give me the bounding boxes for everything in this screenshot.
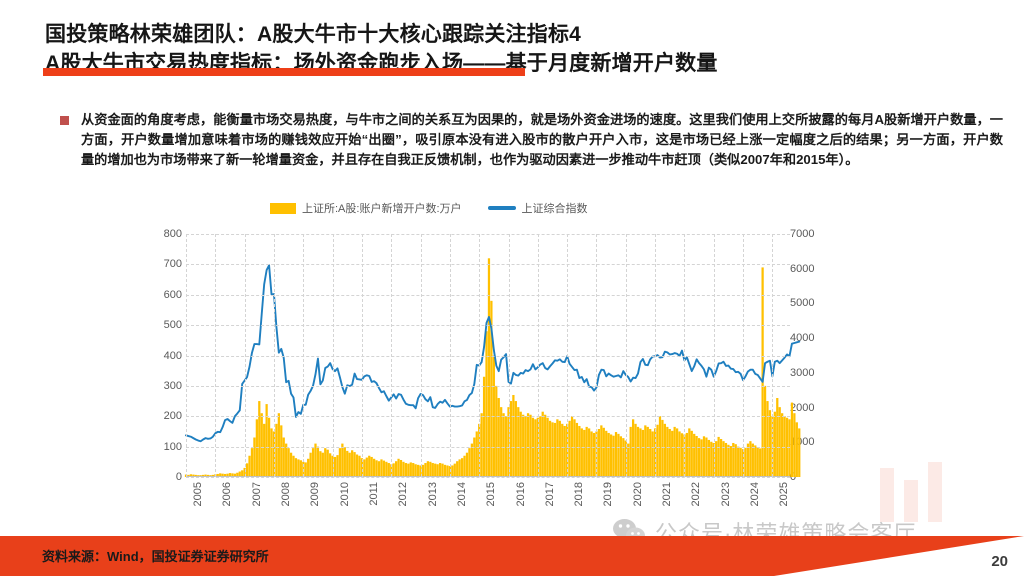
y-axis-right-tick: 5000	[790, 297, 814, 309]
bar	[488, 258, 490, 477]
bar	[791, 403, 793, 477]
bar	[251, 448, 253, 477]
bar	[322, 453, 324, 477]
bar	[647, 427, 649, 477]
x-axis-tick: 2019	[602, 482, 614, 506]
bar	[246, 463, 248, 477]
bar	[366, 458, 368, 477]
bar	[564, 426, 566, 477]
bar	[258, 401, 260, 477]
bar	[312, 448, 314, 477]
bar	[383, 461, 385, 477]
x-axis-tick: 2009	[309, 482, 321, 506]
bar	[461, 458, 463, 477]
bar	[263, 424, 265, 477]
gridline-vertical	[567, 234, 568, 477]
bar	[559, 421, 561, 477]
x-axis-tick: 2013	[427, 482, 439, 506]
bar	[485, 331, 487, 477]
y-axis-left: 0100200300400500600700800	[120, 234, 182, 477]
bar	[503, 413, 505, 477]
bar	[561, 424, 563, 477]
bar	[776, 398, 778, 477]
bar	[581, 428, 583, 477]
bar	[664, 424, 666, 477]
bar	[656, 425, 658, 477]
gridline-vertical	[479, 234, 480, 477]
gridline-vertical	[450, 234, 451, 477]
bar	[674, 427, 676, 477]
x-axis-tick: 2018	[573, 482, 585, 506]
y-axis-right-tick: 3000	[790, 367, 814, 379]
source-note: 资料来源：Wind，国投证券证券研究所	[42, 546, 269, 565]
bar	[466, 453, 468, 477]
bar	[495, 386, 497, 477]
bar	[622, 438, 624, 477]
y-axis-left-tick: 800	[164, 228, 182, 240]
bar	[295, 458, 297, 477]
bar	[434, 464, 436, 477]
bar	[608, 433, 610, 477]
y-axis-left-tick: 200	[164, 410, 182, 422]
bar	[661, 420, 663, 477]
gridline-vertical	[245, 234, 246, 477]
bar	[292, 456, 294, 477]
bar	[515, 401, 517, 477]
bar	[305, 462, 307, 477]
bar	[400, 460, 402, 477]
bar	[300, 460, 302, 477]
bar	[588, 428, 590, 477]
bar	[732, 443, 734, 477]
bar	[468, 448, 470, 477]
bar	[551, 422, 553, 477]
gridline-vertical	[538, 234, 539, 477]
bar	[696, 436, 698, 477]
slide-root: 国投策略林荣雄团队：A股大牛市十大核心跟踪关注指标4 A股大牛市交易热度指标：场…	[0, 0, 1024, 576]
bar	[356, 455, 358, 477]
gridline-vertical	[333, 234, 334, 477]
bar	[793, 413, 795, 477]
bar	[630, 427, 632, 477]
bar	[253, 438, 255, 477]
bar	[512, 395, 514, 477]
bar	[718, 437, 720, 477]
gridline-vertical	[596, 234, 597, 477]
bar	[737, 447, 739, 477]
bar	[688, 428, 690, 477]
bar	[798, 428, 800, 477]
bar	[463, 456, 465, 477]
gridline-vertical	[215, 234, 216, 477]
x-axis-tick: 2025	[778, 482, 790, 506]
bar	[368, 456, 370, 477]
bar	[287, 448, 289, 477]
x-axis-tick: 2005	[192, 482, 204, 506]
bar	[637, 427, 639, 477]
bar	[380, 459, 382, 477]
bar	[740, 448, 742, 477]
gridline-vertical	[626, 234, 627, 477]
gridline-horizontal	[186, 477, 790, 478]
bar	[556, 419, 558, 477]
bar	[388, 463, 390, 477]
bar	[727, 445, 729, 477]
title-line-1: 国投策略林荣雄团队：A股大牛市十大核心跟踪关注指标4	[45, 20, 1005, 49]
bar	[666, 427, 668, 477]
bar	[358, 456, 360, 477]
bar	[691, 431, 693, 477]
gridline-vertical	[684, 234, 685, 477]
bar	[766, 401, 768, 477]
bar	[681, 433, 683, 477]
bar	[744, 448, 746, 477]
bar	[590, 431, 592, 477]
bar	[542, 412, 544, 477]
bar	[527, 413, 529, 477]
title-underline	[43, 68, 525, 76]
bar	[676, 428, 678, 477]
gridline-vertical	[743, 234, 744, 477]
bar	[759, 448, 761, 477]
bar	[334, 457, 336, 477]
bar	[248, 456, 250, 477]
bar	[319, 451, 321, 477]
gridline-horizontal	[186, 447, 790, 448]
bullet-paragraph: 从资金面的角度考虑，能衡量市场交易热度，与牛市之间的关系互为因果的，就是场外资金…	[60, 110, 1010, 170]
bar	[627, 444, 629, 477]
bar	[603, 428, 605, 477]
bar	[278, 413, 280, 477]
gridline-vertical	[655, 234, 656, 477]
bar	[397, 459, 399, 477]
bar	[669, 429, 671, 477]
bar	[336, 455, 338, 477]
bar	[747, 444, 749, 477]
bar	[612, 436, 614, 477]
bar	[576, 423, 578, 477]
y-axis-left-tick: 300	[164, 380, 182, 392]
bar	[617, 434, 619, 477]
bar	[373, 459, 375, 477]
bar	[351, 450, 353, 477]
bar	[454, 464, 456, 477]
bar	[344, 447, 346, 477]
bar	[378, 461, 380, 477]
page-number: 20	[991, 553, 1008, 570]
bar	[427, 461, 429, 477]
bar	[412, 463, 414, 477]
gridline-horizontal	[186, 416, 790, 417]
y-axis-right-tick: 2000	[790, 402, 814, 414]
bar	[309, 453, 311, 477]
bar	[568, 421, 570, 477]
bar	[261, 413, 263, 477]
x-axis-tick: 2007	[251, 482, 263, 506]
bar	[605, 431, 607, 477]
bar	[473, 438, 475, 477]
bar	[314, 444, 316, 477]
bar	[730, 446, 732, 477]
x-axis-tick: 2017	[544, 482, 556, 506]
bar	[752, 444, 754, 477]
bar	[781, 413, 783, 477]
bar	[520, 412, 522, 477]
legend-item-line: 上证综合指数	[488, 200, 588, 216]
legend-line-swatch-icon	[488, 206, 516, 210]
bar	[481, 413, 483, 477]
bar	[432, 463, 434, 477]
x-axis-tick: 2010	[339, 482, 351, 506]
x-axis-tick: 2014	[456, 482, 468, 506]
bar	[703, 436, 705, 477]
gridline-vertical	[303, 234, 304, 477]
bar	[796, 422, 798, 477]
gridline-vertical	[362, 234, 363, 477]
bar	[764, 386, 766, 477]
bar	[371, 457, 373, 477]
bar	[405, 463, 407, 477]
bar	[471, 444, 473, 477]
bar	[678, 431, 680, 477]
bar	[456, 461, 458, 477]
legend-bar-swatch-icon	[270, 203, 296, 214]
bar	[285, 444, 287, 477]
y-axis-left-tick: 400	[164, 350, 182, 362]
bar	[424, 463, 426, 477]
bar	[410, 462, 412, 477]
bar	[407, 464, 409, 477]
bar	[429, 462, 431, 477]
bar	[395, 461, 397, 477]
bullet-square-icon	[60, 116, 69, 125]
bar	[620, 436, 622, 477]
bar	[363, 459, 365, 477]
gridline-horizontal	[186, 356, 790, 357]
bar	[610, 434, 612, 477]
bar	[349, 453, 351, 477]
bar	[686, 433, 688, 477]
x-axis-tick: 2023	[720, 482, 732, 506]
bar	[735, 444, 737, 477]
x-axis-tick: 2016	[515, 482, 527, 506]
bar	[549, 421, 551, 477]
footer-wedge-decoration	[774, 536, 1024, 576]
legend-bar-label: 上证所:A股:账户新增开户数:万户	[302, 200, 462, 216]
bar	[266, 404, 268, 477]
bar	[578, 426, 580, 477]
bar	[297, 459, 299, 477]
gridline-vertical	[186, 234, 187, 477]
bar	[639, 428, 641, 477]
bar	[500, 407, 502, 477]
bar	[324, 448, 326, 477]
x-axis-tick: 2011	[368, 482, 380, 506]
chart-legend: 上证所:A股:账户新增开户数:万户 上证综合指数	[270, 200, 588, 216]
bar	[642, 430, 644, 477]
gridline-horizontal	[186, 264, 790, 265]
bar	[353, 452, 355, 477]
bar	[441, 464, 443, 477]
bar	[341, 444, 343, 477]
bar	[644, 425, 646, 477]
x-axis-labels: 2005200620072008200920102011201220132014…	[186, 480, 790, 528]
bar	[586, 427, 588, 477]
bar	[346, 451, 348, 477]
y-axis-left-tick: 100	[164, 441, 182, 453]
bar	[270, 428, 272, 477]
x-axis-tick: 2006	[221, 482, 233, 506]
bar	[698, 438, 700, 477]
bar	[517, 407, 519, 477]
bar	[307, 459, 309, 477]
gridline-horizontal	[186, 386, 790, 387]
gridline-vertical	[714, 234, 715, 477]
y-axis-right-tick: 7000	[790, 228, 814, 240]
gridline-horizontal	[186, 325, 790, 326]
bar	[708, 440, 710, 477]
plot-area	[186, 234, 790, 477]
bar	[459, 459, 461, 477]
x-axis-tick: 2024	[749, 482, 761, 506]
gridline-horizontal	[186, 295, 790, 296]
plot-wrapper: 0100200300400500600700800 01000200030004…	[120, 234, 910, 484]
bar	[256, 419, 258, 477]
legend-line-label: 上证综合指数	[522, 200, 588, 216]
bar	[280, 425, 282, 477]
bar	[327, 450, 329, 477]
gridline-vertical	[509, 234, 510, 477]
bar	[615, 432, 617, 477]
bar	[283, 438, 285, 477]
bar	[573, 419, 575, 477]
bar	[593, 433, 595, 477]
gridline-horizontal	[186, 234, 790, 235]
bar	[498, 398, 500, 477]
bar	[329, 453, 331, 477]
x-axis-tick: 2021	[661, 482, 673, 506]
bar	[754, 445, 756, 477]
bar	[510, 401, 512, 477]
bar	[700, 439, 702, 477]
bar	[339, 448, 341, 477]
bar	[290, 453, 292, 477]
bar	[769, 410, 771, 477]
bar	[788, 419, 790, 477]
bar	[402, 462, 404, 477]
y-axis-left-tick: 700	[164, 258, 182, 270]
bar	[534, 419, 536, 477]
x-axis-tick: 2020	[632, 482, 644, 506]
x-axis-tick: 2015	[485, 482, 497, 506]
bar	[600, 425, 602, 477]
bar	[705, 438, 707, 477]
bar	[725, 443, 727, 477]
gridline-vertical	[274, 234, 275, 477]
bar	[634, 424, 636, 477]
bar	[583, 430, 585, 477]
y-axis-left-tick: 600	[164, 289, 182, 301]
bar	[554, 423, 556, 477]
bar	[757, 447, 759, 477]
bar	[275, 424, 277, 477]
bullet-paragraph-text: 从资金面的角度考虑，能衡量市场交易热度，与牛市之间的关系互为因果的，就是场外资金…	[81, 110, 1003, 170]
x-axis-tick: 2022	[690, 482, 702, 506]
bar	[598, 429, 600, 477]
bar	[483, 377, 485, 477]
bar	[671, 431, 673, 477]
bar	[317, 447, 319, 477]
bar	[649, 429, 651, 477]
bar	[393, 463, 395, 477]
bar	[632, 419, 634, 477]
bar	[779, 407, 781, 477]
y-axis-left-tick: 0	[176, 471, 182, 483]
bar	[774, 412, 776, 477]
gridline-vertical	[421, 234, 422, 477]
bar	[385, 462, 387, 477]
x-axis-tick: 2012	[397, 482, 409, 506]
legend-item-bar: 上证所:A股:账户新增开户数:万户	[270, 200, 462, 216]
bar	[375, 460, 377, 477]
x-axis-tick: 2008	[280, 482, 292, 506]
y-axis-left-tick: 500	[164, 319, 182, 331]
gridline-vertical	[391, 234, 392, 477]
bar	[693, 434, 695, 477]
gridline-vertical	[772, 234, 773, 477]
bar	[439, 463, 441, 477]
bar	[720, 439, 722, 477]
chart: 上证所:A股:账户新增开户数:万户 上证综合指数 010020030040050…	[120, 196, 910, 536]
bar	[652, 431, 654, 477]
y-axis-right-tick: 6000	[790, 263, 814, 275]
bar	[476, 431, 478, 477]
